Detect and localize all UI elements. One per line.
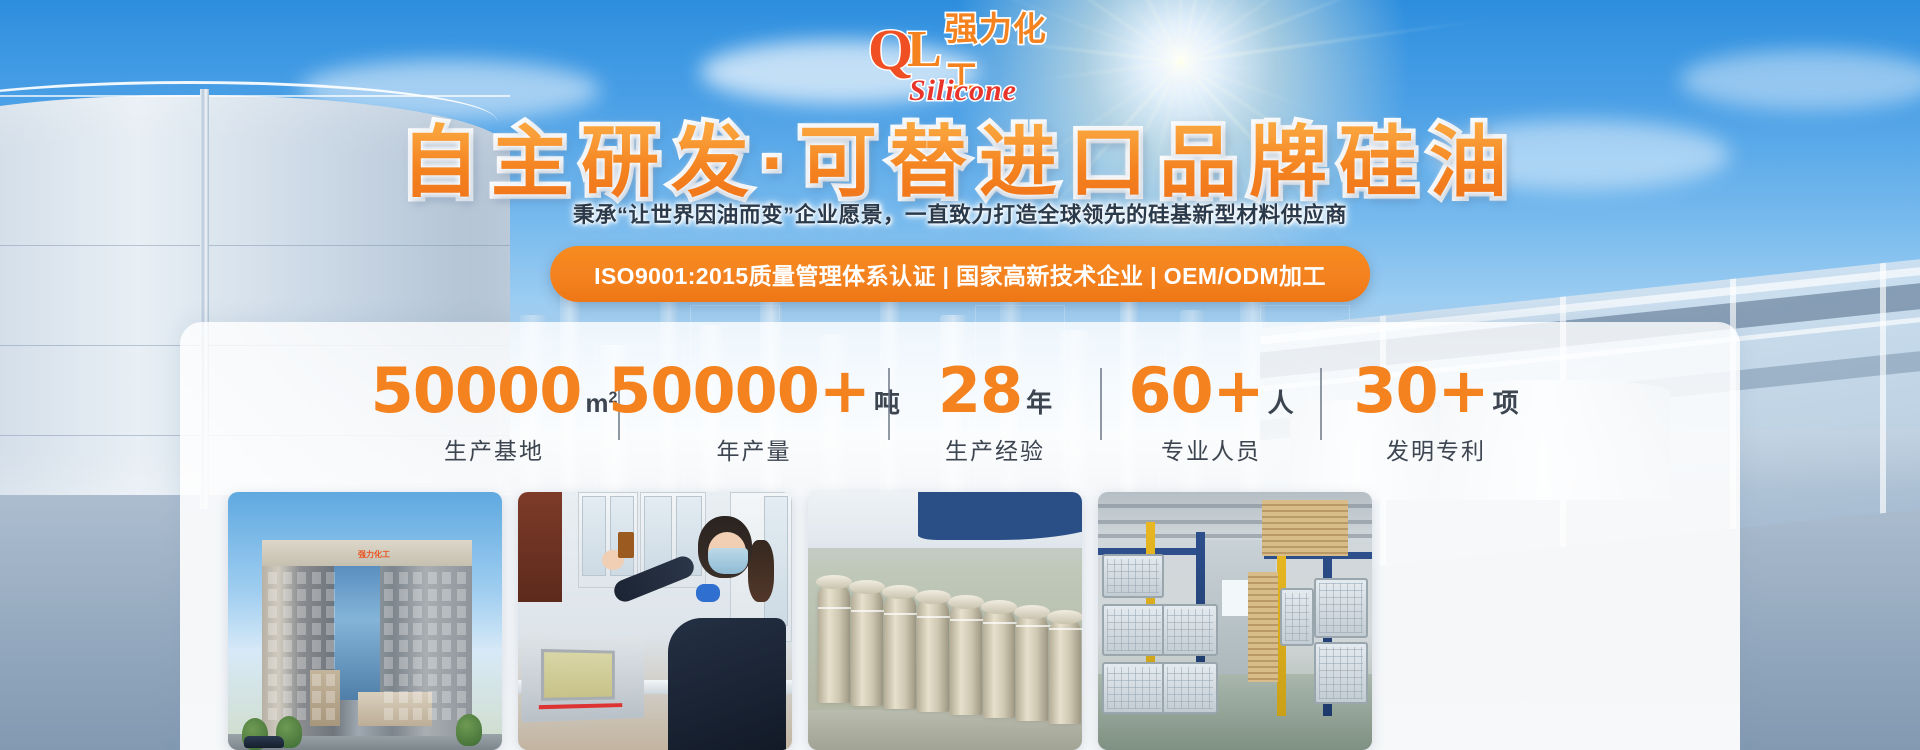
wood-pallet-top xyxy=(1262,500,1348,556)
stat-label: 生产经验 xyxy=(896,432,1094,466)
building-glass-facade xyxy=(334,566,380,700)
stat-label: 年产量 xyxy=(626,432,882,466)
photo-strip: 强力化工 xyxy=(228,492,1692,750)
ibc-tote-4 xyxy=(1162,604,1218,656)
warehouse-photo[interactable] xyxy=(1098,492,1372,750)
laboratory-testing-photo[interactable] xyxy=(518,492,792,750)
stat-value: 28 xyxy=(938,360,1022,422)
instrument-indicator xyxy=(539,703,622,709)
storage-tanks-photo[interactable] xyxy=(808,492,1082,750)
certification-badge: ISO9001:2015质量管理体系认证 | 国家高新技术企业 | OEM/OD… xyxy=(550,246,1370,302)
building-logo-sign: 强力化工 xyxy=(358,549,390,560)
tree-decor-3 xyxy=(456,714,482,746)
stat-unit: 人 xyxy=(1268,390,1294,422)
stat-item: 60+人专业人员 xyxy=(1102,360,1320,466)
stat-value: 50000 xyxy=(371,360,582,422)
instrument-screen xyxy=(541,649,615,701)
ibc-tote-7 xyxy=(1314,642,1368,704)
ibc-tote-6 xyxy=(1314,578,1368,638)
ibc-tote-5 xyxy=(1162,662,1218,714)
stat-item: 50000+吨年产量 xyxy=(620,360,888,466)
ibc-tote-1 xyxy=(1102,554,1164,598)
office-building-photo[interactable]: 强力化工 xyxy=(228,492,502,750)
blue-glove xyxy=(696,584,720,602)
stat-label: 专业人员 xyxy=(1108,432,1314,466)
sample-bottle xyxy=(618,532,634,558)
stat-item: 28年生产经验 xyxy=(890,360,1100,466)
ibc-tote-3 xyxy=(1102,662,1166,714)
lab-door xyxy=(518,492,562,602)
stat-unit: 年 xyxy=(1026,390,1052,422)
hero-subtitle: 秉承“让世界因油而变”企业愿景，一直致力打造全球领先的硅基新型材料供应商 xyxy=(0,198,1920,229)
stat-item: 50000m2生产基地 xyxy=(370,360,618,466)
hero-headline: 自主研发·可替进口品牌硅油 xyxy=(0,100,1920,212)
wood-pallet-mid xyxy=(1248,572,1278,682)
stats-row: 50000m2生产基地50000+吨年产量28年生产经验60+人专业人员30+项… xyxy=(180,360,1740,480)
face-mask-icon xyxy=(708,548,748,574)
stat-value: 60+ xyxy=(1128,360,1263,422)
building-block: 强力化工 xyxy=(262,540,472,736)
stat-value: 30+ xyxy=(1353,360,1488,422)
technician-body xyxy=(668,618,786,750)
ibc-tote-8 xyxy=(1280,588,1314,646)
car-decor xyxy=(244,736,284,748)
lab-instrument xyxy=(521,632,643,723)
stat-value: 50000+ xyxy=(608,360,870,422)
stat-unit: 项 xyxy=(1493,390,1519,422)
company-logo[interactable]: Q L 强力化工 Silicone xyxy=(868,22,1058,110)
stat-item: 30+项发明专利 xyxy=(1322,360,1550,466)
logo-letter-l: L xyxy=(907,24,942,76)
stat-label: 生产基地 xyxy=(376,432,612,466)
blue-roof-arc xyxy=(918,492,1082,540)
hero-banner: Q L 强力化工 Silicone 自主研发·可替进口品牌硅油 自主研发·可替进… xyxy=(0,0,1920,750)
stat-label: 发明专利 xyxy=(1328,432,1544,466)
ibc-tote-2 xyxy=(1102,604,1166,656)
